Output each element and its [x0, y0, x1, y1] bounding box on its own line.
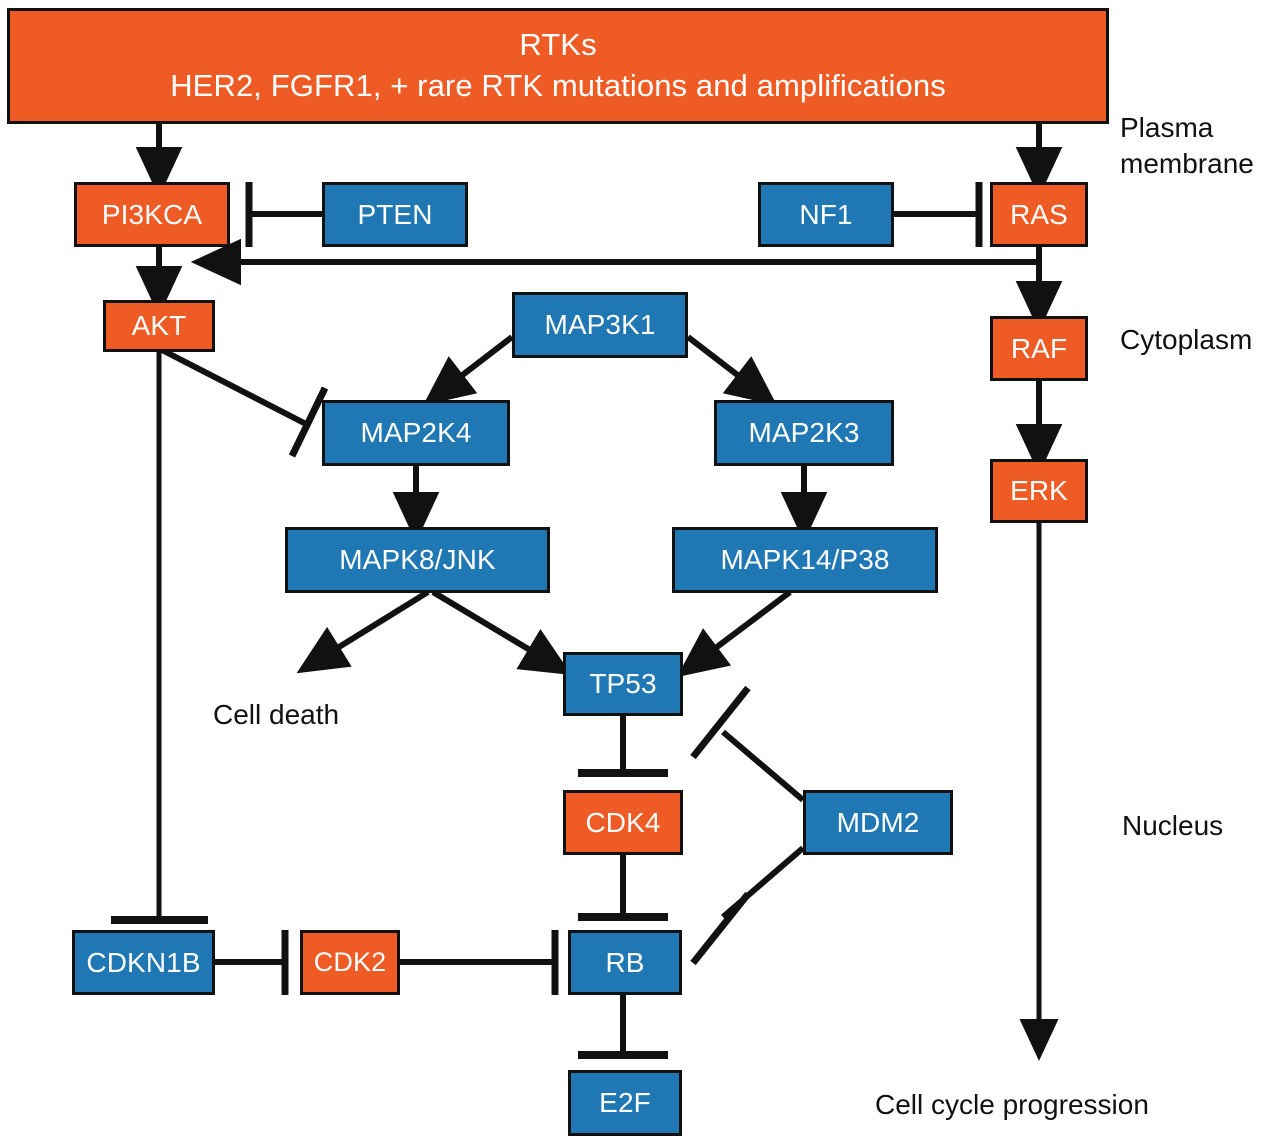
edge-mapk8-celldeath	[318, 592, 428, 660]
edge-map3k1-map2k3	[688, 337, 757, 390]
node-tp53[interactable]: TP53	[563, 652, 683, 716]
node-pi3kca[interactable]: PI3KCA	[74, 182, 230, 247]
pathway-diagram-canvas: RTKs HER2, FGFR1, + rare RTK mutations a…	[0, 0, 1280, 1147]
node-map2k4[interactable]: MAP2K4	[322, 400, 510, 466]
node-raf-label: RAF	[1011, 333, 1067, 364]
label-cell-death: Cell death	[213, 697, 339, 733]
node-erk[interactable]: ERK	[990, 459, 1088, 523]
edge-map3k1-map2k4	[443, 337, 512, 390]
node-rtks-line2: HER2, FGFR1, + rare RTK mutations and am…	[170, 69, 946, 104]
node-map3k1[interactable]: MAP3K1	[512, 292, 688, 358]
edge-akt-map2k4-shaft	[162, 350, 306, 424]
node-akt-label: AKT	[132, 310, 187, 341]
edge-mdm2-tp53-shaft	[723, 732, 803, 800]
label-cytoplasm: Cytoplasm	[1120, 322, 1252, 358]
node-mapk14-p38[interactable]: MAPK14/P38	[672, 527, 938, 593]
label-nucleus: Nucleus	[1122, 808, 1223, 844]
node-mdm2-label: MDM2	[837, 807, 920, 838]
node-pten[interactable]: PTEN	[322, 182, 468, 247]
node-mapk8-jnk-label: MAPK8/JNK	[339, 544, 496, 575]
node-nf1[interactable]: NF1	[758, 182, 894, 247]
node-pten-label: PTEN	[357, 199, 432, 230]
node-nf1-label: NF1	[799, 199, 852, 230]
node-mdm2[interactable]: MDM2	[803, 790, 953, 855]
node-rb[interactable]: RB	[568, 930, 682, 995]
node-e2f[interactable]: E2F	[568, 1070, 682, 1136]
node-rtks-line1: RTKs	[519, 28, 596, 63]
node-cdk2-label: CDK2	[314, 947, 386, 977]
node-erk-label: ERK	[1010, 475, 1068, 506]
node-raf[interactable]: RAF	[990, 316, 1088, 381]
node-ras[interactable]: RAS	[990, 182, 1088, 247]
node-cdk2[interactable]: CDK2	[300, 930, 400, 995]
label-plasma-membrane: Plasma membrane	[1120, 110, 1254, 183]
node-map2k3[interactable]: MAP2K3	[714, 400, 894, 466]
node-ras-label: RAS	[1010, 199, 1068, 230]
node-map2k3-label: MAP2K3	[748, 417, 859, 448]
node-e2f-label: E2F	[599, 1087, 651, 1118]
edge-ras-feedback-to-pi3kca	[216, 246, 1039, 262]
node-rtks[interactable]: RTKs HER2, FGFR1, + rare RTK mutations a…	[7, 8, 1109, 124]
node-mapk8-jnk[interactable]: MAPK8/JNK	[285, 527, 550, 593]
node-akt[interactable]: AKT	[103, 300, 215, 352]
edge-mapk14-tp53	[697, 592, 790, 662]
node-tp53-label: TP53	[589, 668, 656, 699]
edge-mapk8-tp53	[433, 592, 550, 662]
node-map3k1-label: MAP3K1	[544, 309, 655, 340]
node-cdk4-label: CDK4	[585, 807, 660, 838]
node-cdk4[interactable]: CDK4	[563, 790, 683, 855]
node-cdkn1b-label: CDKN1B	[86, 947, 200, 978]
node-mapk14-p38-label: MAPK14/P38	[720, 544, 889, 575]
node-map2k4-label: MAP2K4	[360, 417, 471, 448]
edge-mdm2-rb-bar	[693, 894, 748, 963]
node-rb-label: RB	[605, 947, 644, 978]
node-cdkn1b[interactable]: CDKN1B	[72, 930, 215, 995]
node-pi3kca-label: PI3KCA	[102, 199, 202, 230]
label-cell-cycle-progression: Cell cycle progression	[875, 1087, 1149, 1123]
